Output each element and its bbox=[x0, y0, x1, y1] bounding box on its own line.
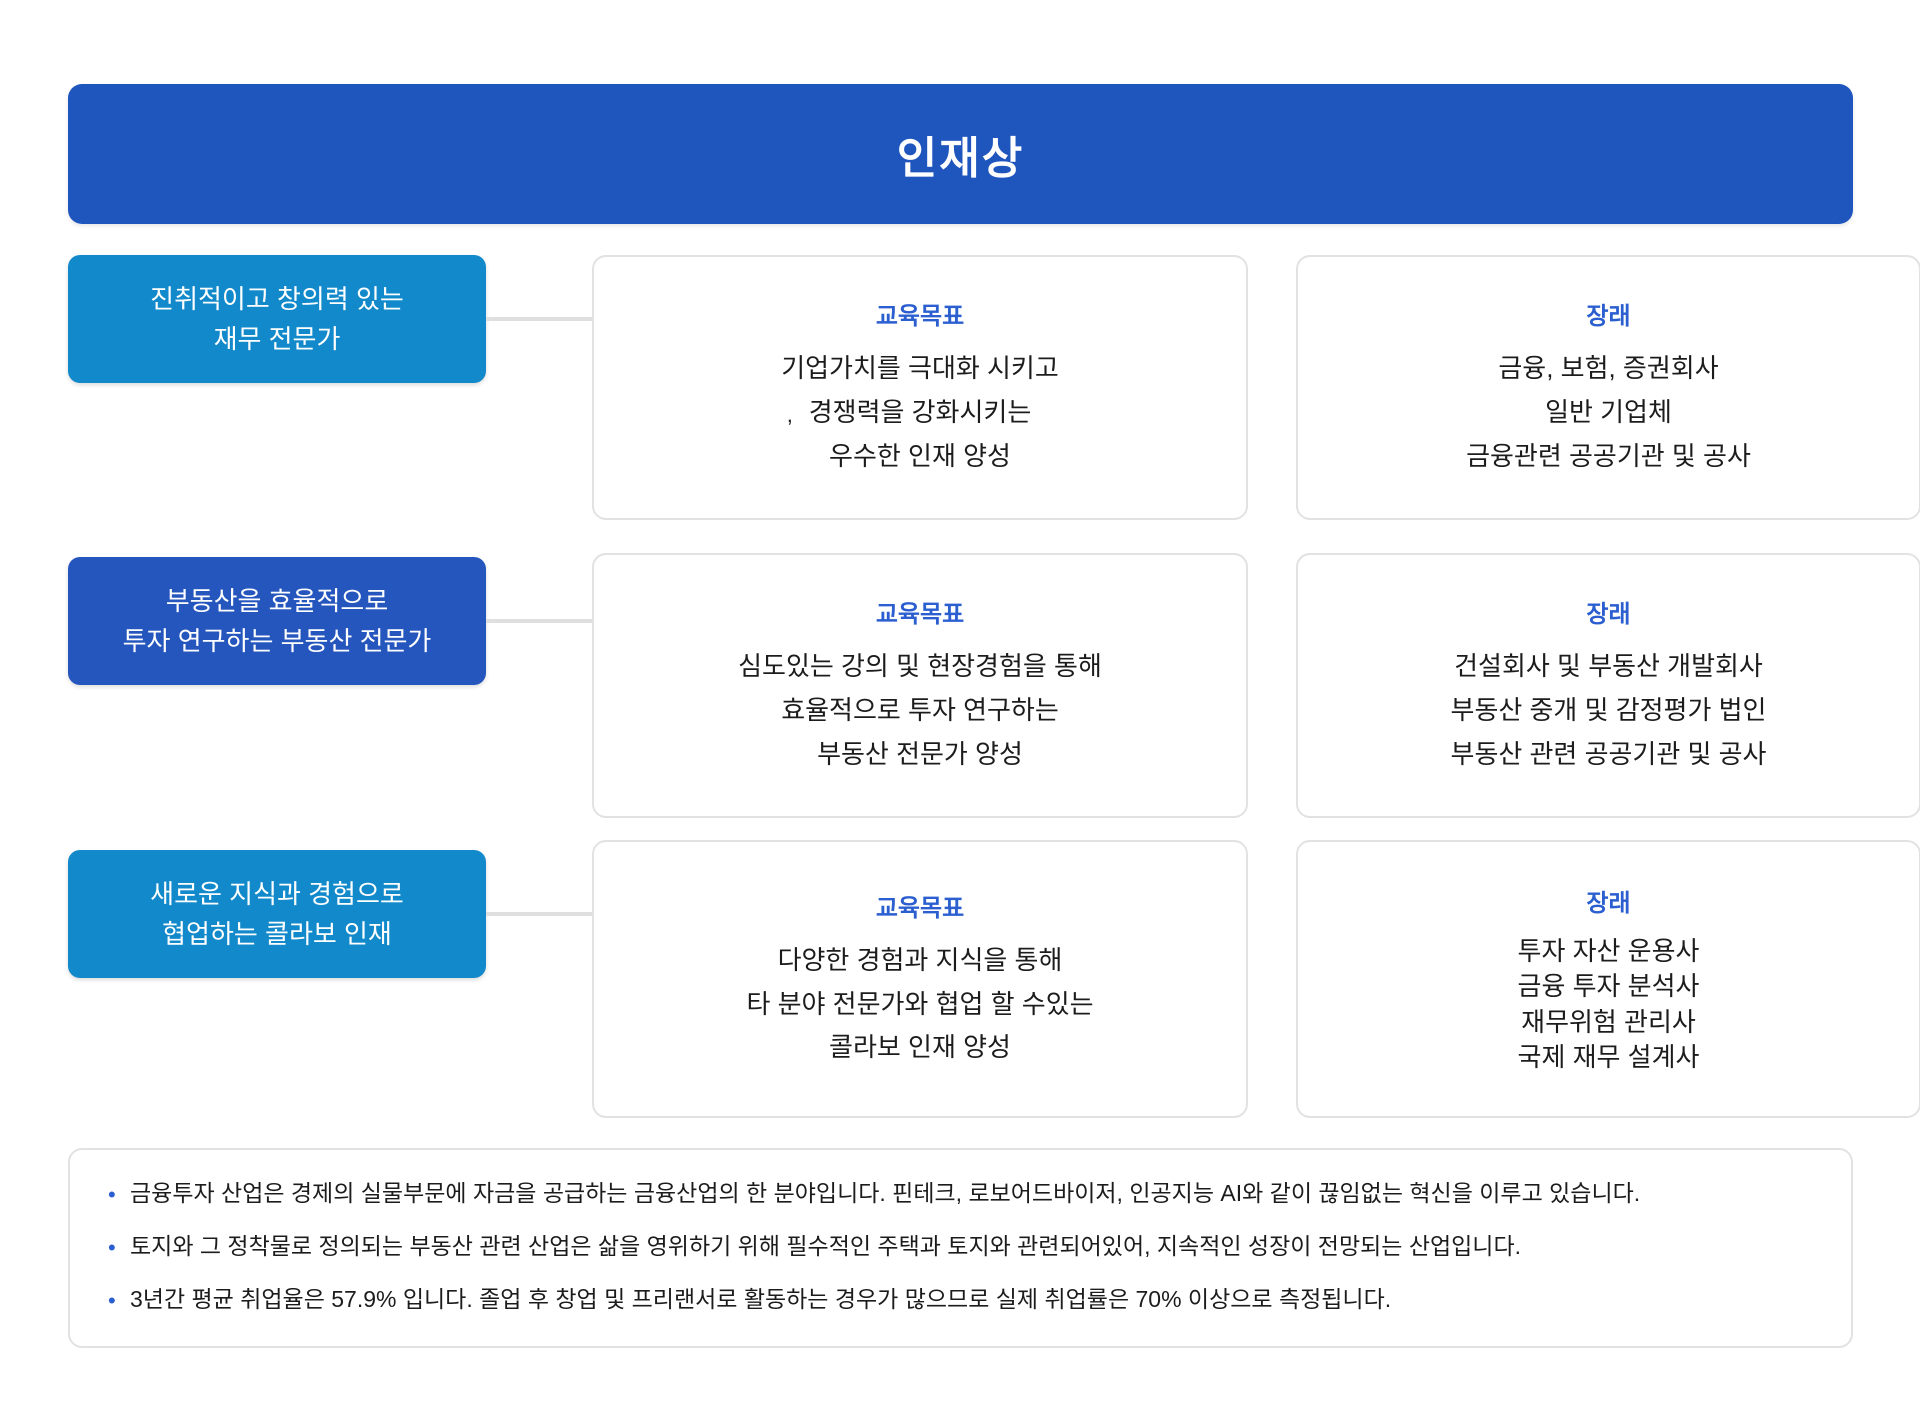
note-text-2: 토지와 그 정착물로 정의되는 부동산 관련 산업은 삶을 영위하기 위해 필수… bbox=[130, 1231, 1521, 1262]
education-goal-line-3-2: 타 분야 전문가와 협업 할 수있는 bbox=[746, 983, 1093, 1027]
talent-row-3: 새로운 지식과 경험으로 협업하는 콜라보 인재 교육목표 다양한 경험과 지식… bbox=[68, 840, 1853, 1120]
talent-label-1-line2: 재무 전문가 bbox=[214, 319, 341, 359]
education-goal-line-1-3: 우수한 인재 양성 bbox=[829, 435, 1011, 479]
education-goal-line-1-2: 경쟁력을 강화시키는 bbox=[809, 391, 1032, 435]
talent-label-3-line2: 협업하는 콜라보 인재 bbox=[162, 914, 392, 954]
bullet-icon: • bbox=[108, 1178, 130, 1207]
connector-line-3 bbox=[486, 912, 592, 916]
future-heading-3: 장래 bbox=[1586, 883, 1630, 918]
bullet-icon: • bbox=[108, 1284, 130, 1313]
education-goal-card-2: 교육목표 심도있는 강의 및 현장경험을 통해 효율적으로 투자 연구하는 부동… bbox=[592, 553, 1248, 818]
education-goal-heading-2: 교육목표 bbox=[876, 594, 964, 629]
note-item: • 토지와 그 정착물로 정의되는 부동산 관련 산업은 삶을 영위하기 위해 … bbox=[108, 1231, 1813, 1262]
future-line-1-1: 금융, 보험, 증권회사 bbox=[1498, 347, 1718, 391]
note-text-3: 3년간 평균 취업율은 57.9% 입니다. 졸업 후 창업 및 프리랜서로 활… bbox=[130, 1284, 1391, 1315]
future-line-3-2: 금융 투자 분석사 bbox=[1518, 969, 1700, 1004]
talent-row-2: 부동산을 효율적으로 투자 연구하는 부동산 전문가 교육목표 심도있는 강의 … bbox=[68, 553, 1853, 818]
connector-line-1 bbox=[486, 317, 592, 321]
education-goal-line-1-1: 기업가치를 극대화 시키고 bbox=[781, 347, 1059, 391]
talent-profile-diagram: 인재상 진취적이고 창의력 있는 재무 전문가 교육목표 기업가치를 극대화 시… bbox=[0, 0, 1920, 1427]
future-line-2-2: 부동산 중개 및 감정평가 법인 bbox=[1451, 689, 1767, 733]
future-heading-2: 장래 bbox=[1586, 594, 1630, 629]
talent-label-1[interactable]: 진취적이고 창의력 있는 재무 전문가 bbox=[68, 255, 486, 383]
talent-label-2-line1: 부동산을 효율적으로 bbox=[166, 581, 389, 621]
connector-line-2 bbox=[486, 619, 592, 623]
talent-label-3[interactable]: 새로운 지식과 경험으로 협업하는 콜라보 인재 bbox=[68, 850, 486, 978]
education-goal-card-3: 교육목표 다양한 경험과 지식을 통해 타 분야 전문가와 협업 할 수있는 콜… bbox=[592, 840, 1248, 1118]
talent-label-1-line1: 진취적이고 창의력 있는 bbox=[150, 279, 404, 319]
future-card-2: 장래 건설회사 및 부동산 개발회사 부동산 중개 및 감정평가 법인 부동산 … bbox=[1296, 553, 1920, 818]
future-line-2-1: 건설회사 및 부동산 개발회사 bbox=[1454, 645, 1763, 689]
future-line-3-4: 국제 재무 설계사 bbox=[1518, 1040, 1700, 1075]
future-line-1-3: 금융관련 공공기관 및 공사 bbox=[1466, 435, 1751, 479]
future-line-1-2: 일반 기업체 bbox=[1545, 391, 1672, 435]
bullet-icon: • bbox=[108, 1231, 130, 1260]
talent-label-2-line2: 투자 연구하는 부동산 전문가 bbox=[123, 621, 432, 661]
talent-label-2[interactable]: 부동산을 효율적으로 투자 연구하는 부동산 전문가 bbox=[68, 557, 486, 685]
talent-label-3-line1: 새로운 지식과 경험으로 bbox=[150, 874, 404, 914]
note-text-1: 금융투자 산업은 경제의 실물부문에 자금을 공급하는 금융산업의 한 분야입니… bbox=[130, 1178, 1640, 1209]
notes-box: • 금융투자 산업은 경제의 실물부문에 자금을 공급하는 금융산업의 한 분야… bbox=[68, 1148, 1853, 1348]
education-goal-card-1: 교육목표 기업가치를 극대화 시키고 경쟁력을 강화시키는 우수한 인재 양성 bbox=[592, 255, 1248, 520]
talent-row-1: 진취적이고 창의력 있는 재무 전문가 교육목표 기업가치를 극대화 시키고 경… bbox=[68, 255, 1853, 520]
education-goal-heading-1: 교육목표 bbox=[876, 296, 964, 331]
education-goal-line-3-1: 다양한 경험과 지식을 통해 bbox=[778, 939, 1063, 983]
education-goal-line-2-2: 효율적으로 투자 연구하는 bbox=[781, 689, 1059, 733]
page-title: 인재상 bbox=[897, 122, 1024, 186]
note-item: • 금융투자 산업은 경제의 실물부문에 자금을 공급하는 금융산업의 한 분야… bbox=[108, 1178, 1813, 1209]
future-line-3-3: 재무위험 관리사 bbox=[1521, 1005, 1696, 1040]
future-heading-1: 장래 bbox=[1586, 296, 1630, 331]
page-title-banner: 인재상 bbox=[68, 84, 1853, 224]
education-goal-line-2-3: 부동산 전문가 양성 bbox=[817, 733, 1023, 777]
future-card-3: 장래 투자 자산 운용사 금융 투자 분석사 재무위험 관리사 국제 재무 설계… bbox=[1296, 840, 1920, 1118]
education-goal-heading-3: 교육목표 bbox=[876, 888, 964, 923]
future-card-1: 장래 금융, 보험, 증권회사 일반 기업체 금융관련 공공기관 및 공사 bbox=[1296, 255, 1920, 520]
future-line-2-3: 부동산 관련 공공기관 및 공사 bbox=[1451, 733, 1767, 777]
education-goal-line-2-1: 심도있는 강의 및 현장경험을 통해 bbox=[738, 645, 1102, 689]
education-goal-line-3-3: 콜라보 인재 양성 bbox=[829, 1026, 1011, 1070]
note-item: • 3년간 평균 취업율은 57.9% 입니다. 졸업 후 창업 및 프리랜서로… bbox=[108, 1284, 1813, 1315]
future-line-3-1: 투자 자산 운용사 bbox=[1518, 934, 1700, 969]
